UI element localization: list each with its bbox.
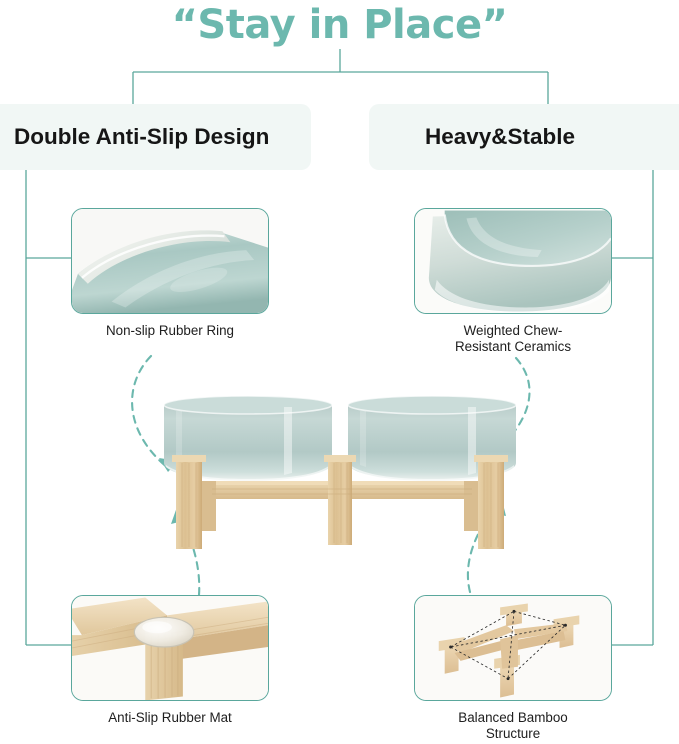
feature-thumbnail-balanced-bamboo-structure <box>414 595 612 701</box>
hero-product-image <box>152 385 528 550</box>
feature-card-anti-slip-rubber-mat: Anti-Slip Rubber Mat <box>71 595 269 726</box>
bowl-underside-image <box>72 209 268 313</box>
feature-thumbnail-weighted-ceramics <box>414 208 612 314</box>
feature-caption-anti-slip-rubber-mat: Anti-Slip Rubber Mat <box>71 710 269 726</box>
page-title: “Stay in Place” <box>0 2 679 48</box>
caption-line-2: Resistant Ceramics <box>414 339 612 355</box>
feature-caption-balanced-bamboo-structure: Balanced Bamboo Structure <box>414 710 612 741</box>
feature-thumbnail-non-slip-rubber-ring <box>71 208 269 314</box>
bamboo-stand-underside-image <box>415 596 611 700</box>
category-pill-heavy-stable: Heavy&Stable <box>369 104 679 170</box>
caption-line-2: Structure <box>414 726 612 742</box>
infographic-root: “Stay in Place” <box>0 0 679 744</box>
bamboo-leg-foot-pad-image <box>72 596 268 700</box>
elevated-double-bowl-set <box>152 385 528 550</box>
caption-line-1: Balanced Bamboo <box>414 710 612 726</box>
category-label-double-anti-slip: Double Anti-Slip Design <box>14 124 269 150</box>
feature-card-non-slip-rubber-ring: Non-slip Rubber Ring <box>71 208 269 339</box>
category-label-heavy-stable: Heavy&Stable <box>425 124 575 150</box>
feature-card-weighted-chew-resistant-ceramics: Weighted Chew- Resistant Ceramics <box>414 208 612 354</box>
feature-caption-non-slip-rubber-ring: Non-slip Rubber Ring <box>71 323 269 339</box>
feature-card-balanced-bamboo-structure: Balanced Bamboo Structure <box>414 595 612 741</box>
feature-caption-weighted-ceramics: Weighted Chew- Resistant Ceramics <box>414 323 612 354</box>
category-pill-double-anti-slip: Double Anti-Slip Design <box>0 104 311 170</box>
bowl-interior-image <box>415 209 611 313</box>
caption-line-1: Weighted Chew- <box>414 323 612 339</box>
feature-thumbnail-anti-slip-rubber-mat <box>71 595 269 701</box>
